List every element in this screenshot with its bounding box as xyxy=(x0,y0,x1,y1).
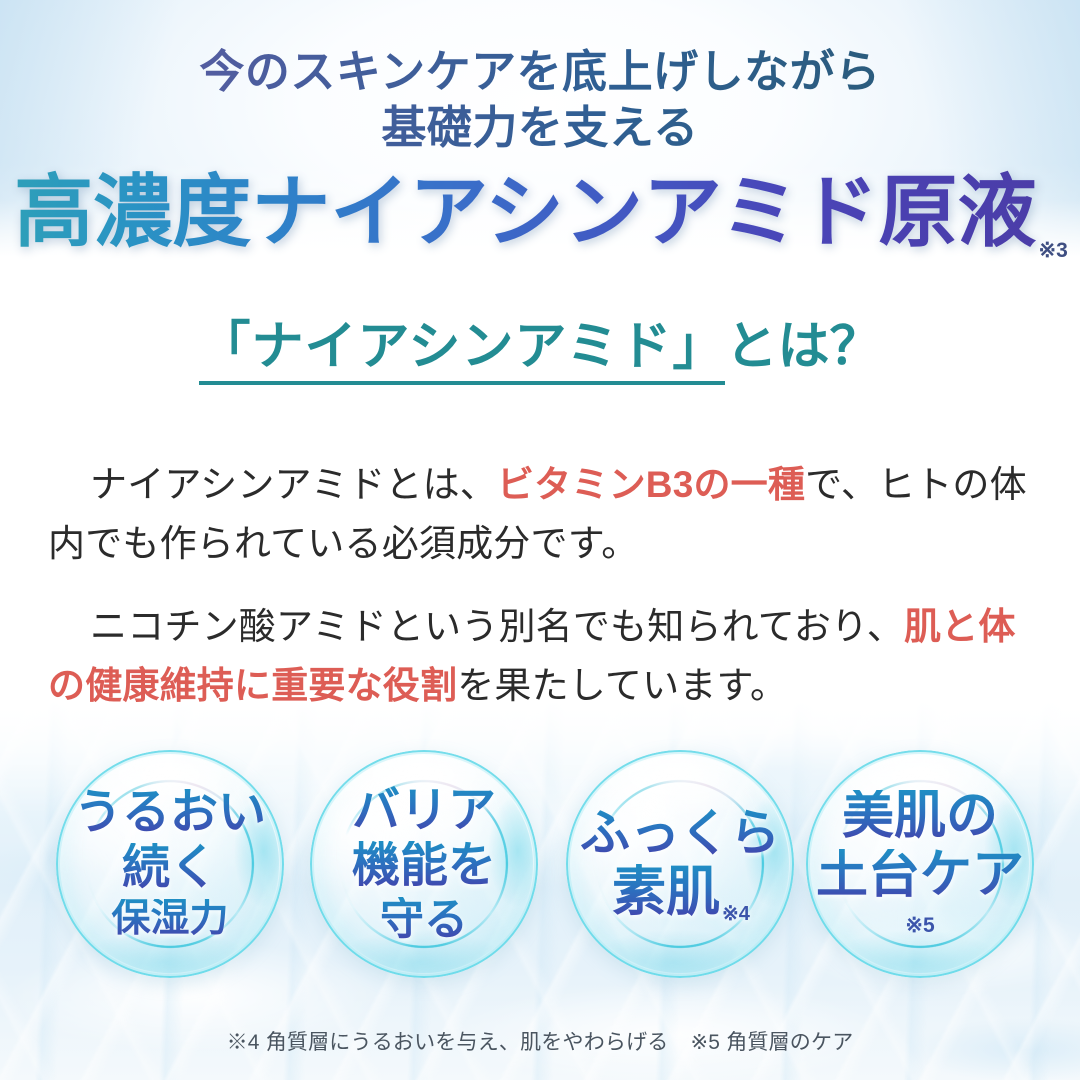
paragraph-1-lead: ナイアシンアミドとは、 xyxy=(90,464,497,505)
benefit-bubble-moisture: うるおい 続く 保湿力 xyxy=(56,750,284,978)
header-text-block: 今のスキンケアを底上げしながら 基礎力を支える 高濃度ナイアシンアミド原液※3 xyxy=(0,0,1080,260)
benefit-bubbles-row: うるおい 続く 保湿力 バリア 機能を 守る ふっくら 素肌※4 美肌の 土台ケ… xyxy=(0,742,1080,1018)
section-heading: 「ナイアシンアミド」とは？ xyxy=(0,316,1080,378)
benefit-bubble-moisture-line1: うるおい xyxy=(74,788,266,838)
header-main-title: 高濃度ナイアシンアミド原液 xyxy=(14,170,1036,257)
benefit-bubble-barrier-line3: 守る xyxy=(380,897,468,943)
footnote-row: ※4 角質層にうるおいを与え、肌をやわらげる※5 角質層のケア xyxy=(0,1026,1080,1056)
benefit-bubble-plump-skin-line2: 素肌※4 xyxy=(612,864,748,920)
footnote-5: ※5 角質層のケア xyxy=(691,1031,854,1054)
benefit-bubble-skin-foundation: 美肌の 土台ケア ※5 xyxy=(806,750,1034,978)
infographic-page: 今のスキンケアを底上げしながら 基礎力を支える 高濃度ナイアシンアミド原液※3 … xyxy=(0,0,1080,1080)
paragraph-2: ニコチン酸アミドという別名でも知られており、肌と体の健康維持に重要な役割を果たし… xyxy=(48,597,1038,715)
benefit-bubble-plump-skin-text: ふっくら 素肌※4 xyxy=(566,750,794,978)
body-text-block: ナイアシンアミドとは、ビタミンB3の一種で、ヒトの体内でも作られている必須成分で… xyxy=(48,455,1038,715)
paragraph-2-tail: を果たしています。 xyxy=(457,665,787,706)
benefit-bubble-barrier-text: バリア 機能を 守る xyxy=(310,750,538,978)
benefit-bubble-plump-skin: ふっくら 素肌※4 xyxy=(566,750,794,978)
paragraph-1-highlight: ビタミンB3の一種 xyxy=(497,464,805,505)
benefit-bubble-barrier-line1: バリア xyxy=(352,786,496,836)
header-main-title-wrap: 高濃度ナイアシンアミド原液※3 xyxy=(0,168,1080,260)
header-subtitle-line1: 今のスキンケアを底上げしながら xyxy=(0,0,1080,100)
header-subtitle-line2: 基礎力を支える xyxy=(0,100,1080,156)
benefit-bubble-moisture-text: うるおい 続く 保湿力 xyxy=(56,750,284,978)
paragraph-1: ナイアシンアミドとは、ビタミンB3の一種で、ヒトの体内でも作られている必須成分で… xyxy=(48,455,1038,573)
benefit-bubble-plump-skin-footnote-marker: ※4 xyxy=(722,903,750,925)
footnote-4: ※4 角質層にうるおいを与え、肌をやわらげる xyxy=(227,1031,669,1054)
header-main-title-footnote-marker: ※3 xyxy=(1038,239,1067,262)
benefit-bubble-barrier: バリア 機能を 守る xyxy=(310,750,538,978)
benefit-bubble-skin-foundation-line2: 土台ケア xyxy=(816,849,1024,903)
benefit-bubble-skin-foundation-footnote-marker: ※5 xyxy=(905,913,934,938)
benefit-bubble-skin-foundation-line1: 美肌の xyxy=(842,790,998,844)
benefit-bubble-skin-foundation-text: 美肌の 土台ケア ※5 xyxy=(806,750,1034,978)
benefit-bubble-moisture-line2: 続く xyxy=(122,843,218,893)
section-heading-underlined: 「ナイアシンアミド」 xyxy=(199,318,726,385)
benefit-bubble-moisture-line3: 保湿力 xyxy=(111,899,228,940)
benefit-bubble-plump-skin-line2-text: 素肌 xyxy=(612,862,720,922)
benefit-bubble-barrier-line2: 機能を xyxy=(352,841,496,891)
paragraph-2-lead: ニコチン酸アミドという別名でも知られており、 xyxy=(90,606,904,647)
benefit-bubble-plump-skin-line1: ふっくら xyxy=(580,807,780,859)
section-heading-tail: とは？ xyxy=(725,318,881,376)
